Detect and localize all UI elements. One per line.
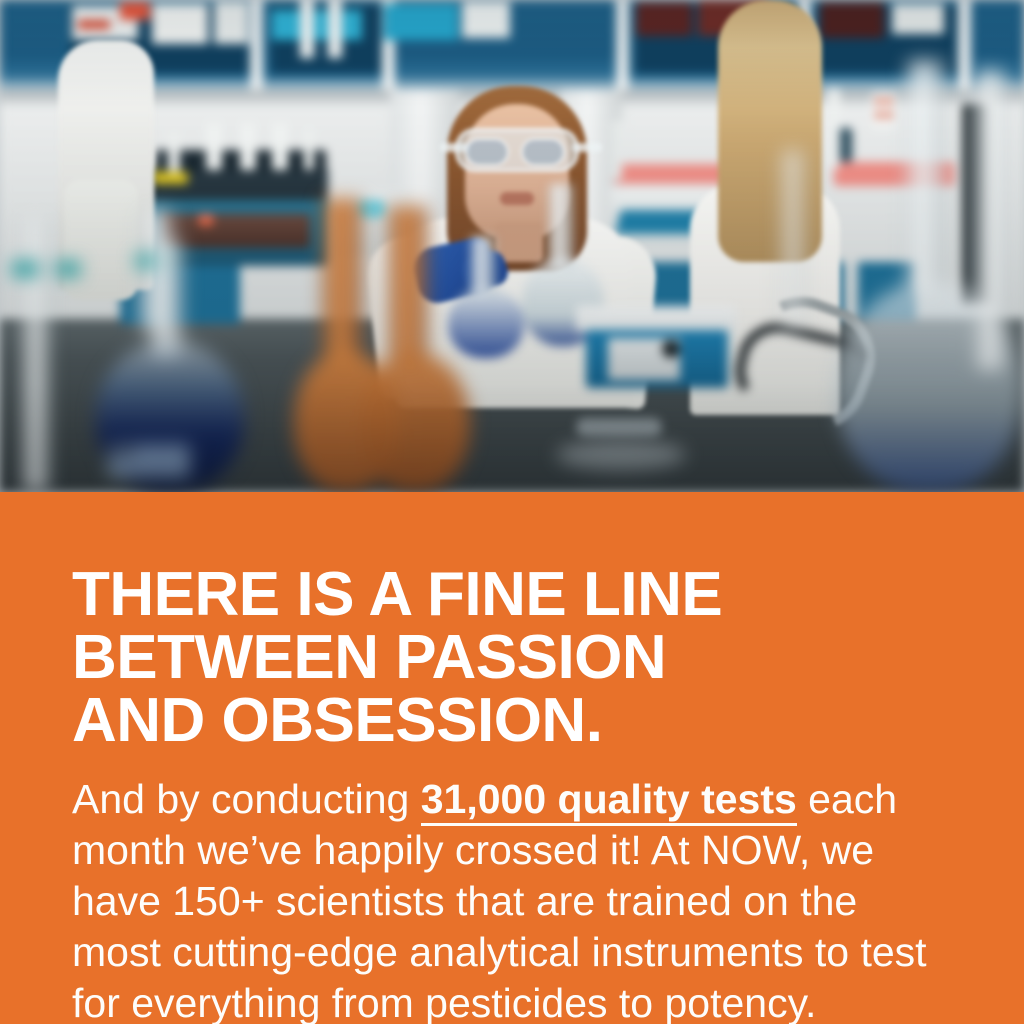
- quality-tests-highlight: 31,000 quality tests: [421, 776, 797, 826]
- headline-line-3: AND OBSESSION.: [72, 689, 972, 752]
- poster: 500 THERE IS A FINE LINE BETWEEN PASSION…: [0, 0, 1024, 1024]
- headline-line-2: BETWEEN PASSION: [72, 626, 972, 689]
- page-title: THERE IS A FINE LINE BETWEEN PASSION AND…: [72, 563, 972, 752]
- body-copy: And by conducting 31,000 quality tests e…: [72, 774, 952, 1024]
- headline-line-1: THERE IS A FINE LINE: [72, 563, 972, 626]
- body-prefix: And by conducting: [72, 776, 421, 822]
- photo-color-grade: [0, 0, 1024, 492]
- lab-photo: 500: [0, 0, 1024, 492]
